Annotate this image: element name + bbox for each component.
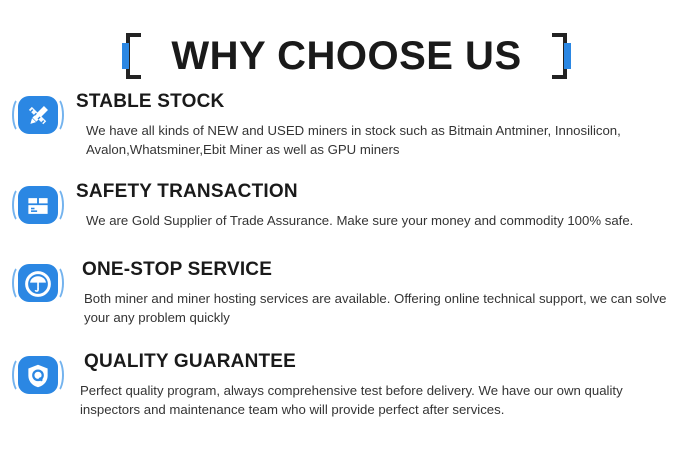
feature-description: Both miner and miner hosting services ar… [76, 289, 676, 327]
package-box-icon [12, 186, 64, 226]
feature-icon-wrap [0, 352, 76, 396]
left-bracket-decoration [115, 31, 141, 81]
feature-icon-wrap [0, 92, 76, 136]
feature-item: ONE-STOP SERVICE Both miner and miner ho… [0, 260, 693, 352]
feature-icon-wrap [0, 182, 76, 226]
feature-item: QUALITY GUARANTEE Perfect quality progra… [0, 352, 693, 448]
feature-item: SAFETY TRANSACTION We are Gold Supplier … [0, 182, 693, 260]
shield-quality-glyph [24, 362, 52, 390]
right-bracket-accent-tab [564, 43, 571, 69]
right-bracket-top-arm [552, 33, 567, 37]
feature-text: ONE-STOP SERVICE Both miner and miner ho… [76, 260, 693, 327]
feature-title: SAFETY TRANSACTION [76, 182, 677, 203]
page-title: WHY CHOOSE US [171, 36, 521, 76]
umbrella-icon [12, 264, 64, 304]
umbrella-glyph [24, 270, 52, 298]
feature-text: STABLE STOCK We have all kinds of NEW an… [76, 92, 693, 159]
feature-title: QUALITY GUARANTEE [76, 352, 677, 373]
page-title-block: WHY CHOOSE US [0, 28, 693, 84]
feature-text: SAFETY TRANSACTION We are Gold Supplier … [76, 182, 693, 230]
feature-title: STABLE STOCK [76, 92, 677, 113]
right-bracket-decoration [552, 31, 578, 81]
left-bracket-bottom-arm [126, 75, 141, 79]
package-box-glyph [24, 192, 52, 220]
right-bracket-bottom-arm [552, 75, 567, 79]
feature-title: ONE-STOP SERVICE [76, 260, 677, 281]
feature-item: STABLE STOCK We have all kinds of NEW an… [0, 92, 693, 182]
feature-description: Perfect quality program, always comprehe… [76, 381, 658, 419]
pencil-ruler-icon [12, 96, 64, 136]
shield-quality-icon [12, 356, 64, 396]
left-bracket-top-arm [126, 33, 141, 37]
pencil-ruler-glyph [24, 102, 52, 130]
feature-text: QUALITY GUARANTEE Perfect quality progra… [76, 352, 693, 419]
feature-description: We are Gold Supplier of Trade Assurance.… [76, 211, 677, 230]
feature-icon-wrap [0, 260, 76, 304]
feature-description: We have all kinds of NEW and USED miners… [76, 121, 677, 159]
feature-list: STABLE STOCK We have all kinds of NEW an… [0, 92, 693, 448]
left-bracket-accent-tab [122, 43, 129, 69]
